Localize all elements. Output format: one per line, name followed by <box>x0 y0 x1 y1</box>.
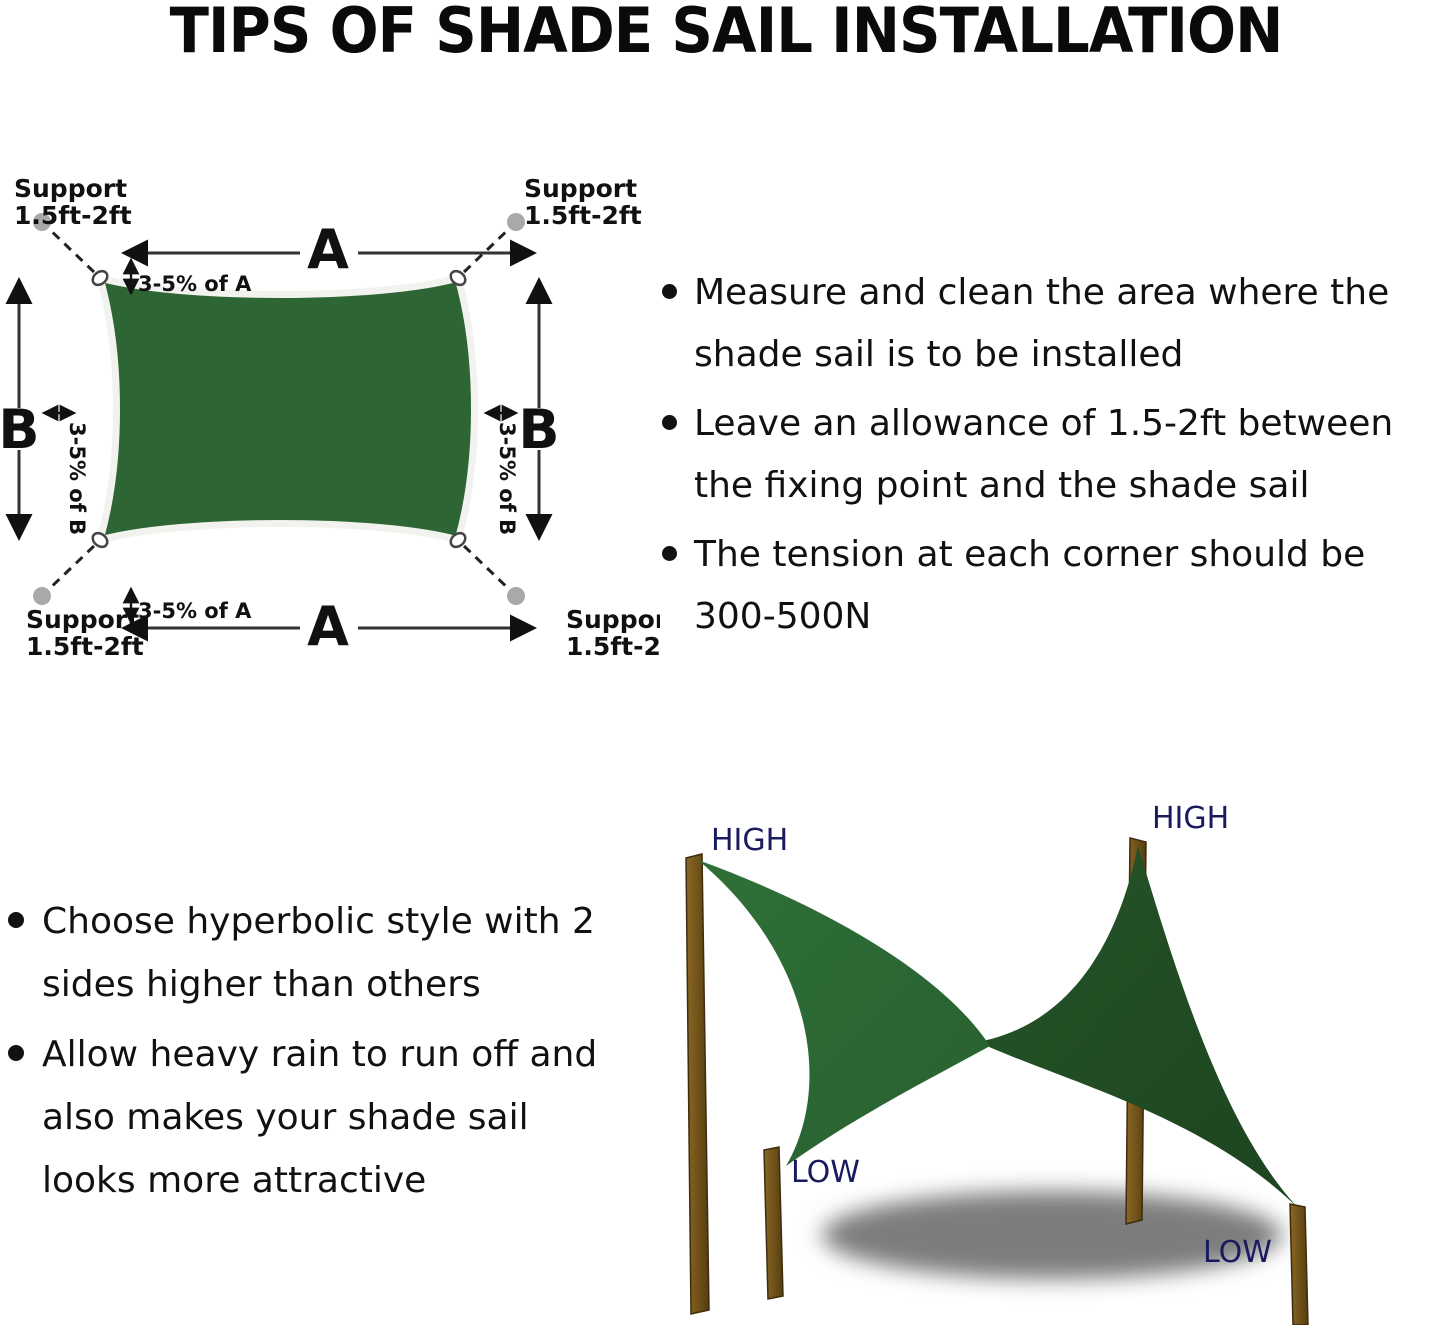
label-high-left: HIGH <box>711 823 788 858</box>
post-low-left <box>764 1147 783 1299</box>
support-line-bottom-left <box>46 546 94 592</box>
list-item: The tension at each corner should be 300… <box>648 524 1452 648</box>
hyperbolic-sail-diagram-svg: HIGH HIGH LOW LOW <box>660 780 1452 1325</box>
curvature-label-bottom: 3-5% of A <box>138 599 252 623</box>
dim-label-A-top: A <box>307 218 349 281</box>
support-line-top-left <box>46 226 94 272</box>
support-label-top-left-line2: 1.5ft-2ft <box>14 201 132 230</box>
support-line-top-right <box>464 226 512 272</box>
curvature-label-right: 3-5% of B <box>495 422 519 535</box>
tips-list: Measure and clean the area where the sha… <box>648 262 1452 648</box>
list-item: Measure and clean the area where the sha… <box>648 262 1452 386</box>
hyperbolic-tips-list-panel: Choose hyperbolic style with 2 sides hig… <box>0 890 630 1220</box>
support-label-bottom-left-line1: Support <box>26 605 139 634</box>
curvature-label-top: 3-5% of A <box>138 272 252 296</box>
list-item: Choose hyperbolic style with 2 sides hig… <box>0 890 630 1016</box>
post-low-right <box>1290 1204 1308 1325</box>
sail-panel-light <box>698 860 990 1166</box>
dim-label-B-right: B <box>518 398 559 461</box>
support-dot-bottom-left <box>33 587 51 605</box>
support-label-top-left-line1: Support <box>14 174 127 203</box>
page-title: TIPS OF SHADE SAIL INSTALLATION <box>51 0 1401 66</box>
support-dot-bottom-right <box>507 587 525 605</box>
rect-sail-diagram-panel: Support 1.5ft-2ft Support 1.5ft-2ft Supp… <box>0 160 660 740</box>
support-label-bottom-left-line2: 1.5ft-2ft <box>26 632 144 661</box>
tips-list-panel: Measure and clean the area where the sha… <box>648 262 1452 662</box>
sail-shape <box>100 278 475 540</box>
dim-label-B-left: B <box>0 398 40 461</box>
label-low-left: LOW <box>791 1155 860 1190</box>
support-label-top-right-line2: 1.5ft-2ft <box>524 201 642 230</box>
support-line-bottom-right <box>464 546 512 592</box>
list-item: Allow heavy rain to run off and also mak… <box>0 1023 630 1212</box>
rect-sail-diagram-svg: Support 1.5ft-2ft Support 1.5ft-2ft Supp… <box>0 160 660 740</box>
post-high-left <box>686 854 709 1314</box>
hyperbolic-sail-diagram-panel: HIGH HIGH LOW LOW <box>660 780 1452 1325</box>
support-label-top-right-line1: Support <box>524 174 637 203</box>
label-high-right: HIGH <box>1152 801 1229 836</box>
support-dot-top-right <box>507 213 525 231</box>
curvature-label-left: 3-5% of B <box>65 422 89 535</box>
support-label-bottom-right-line2: 1.5ft-2ft <box>566 632 660 661</box>
list-item: Leave an allowance of 1.5-2ft between th… <box>648 393 1452 517</box>
hyperbolic-tips-list: Choose hyperbolic style with 2 sides hig… <box>0 890 630 1212</box>
dim-label-A-bottom: A <box>307 595 349 658</box>
label-low-right: LOW <box>1203 1235 1272 1270</box>
support-label-bottom-right-line1: Support <box>566 605 660 634</box>
